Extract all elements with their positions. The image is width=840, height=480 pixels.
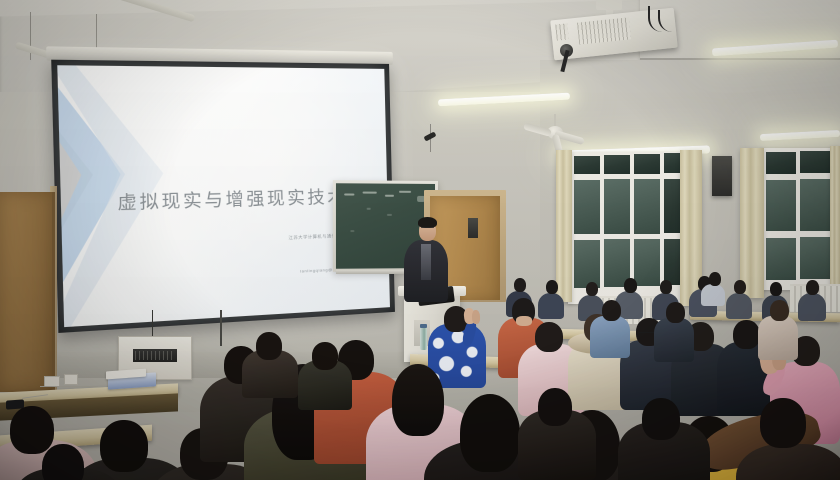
window-pane-main bbox=[766, 180, 796, 232]
wall-outlet[interactable] bbox=[64, 374, 78, 385]
panel-grille bbox=[135, 351, 175, 360]
window-pane-main bbox=[574, 180, 600, 236]
window-pane-top bbox=[634, 154, 660, 174]
projector-vent bbox=[555, 23, 569, 40]
chalk-mark bbox=[387, 214, 392, 216]
window-pane-lower bbox=[766, 238, 796, 280]
window-pane-lower bbox=[634, 238, 660, 286]
water-bottle bbox=[420, 328, 427, 350]
chalk-mark bbox=[344, 193, 354, 195]
chalk-mark bbox=[367, 208, 371, 210]
panel-cable bbox=[152, 310, 153, 338]
left-door[interactable] bbox=[0, 192, 55, 392]
window-mullion bbox=[760, 231, 840, 237]
slide-title: 虚拟现实与增强现实技术 bbox=[117, 182, 347, 214]
chalk-mark bbox=[385, 195, 394, 197]
chalk-mark bbox=[399, 191, 411, 193]
classroom-lecture-photo: 虚拟现实与增强现实技术 李宁强 江苏大学计算机与通信工程学院 jsu@.cn l… bbox=[0, 0, 840, 480]
window-pane-main bbox=[604, 179, 630, 235]
window-mullion bbox=[760, 174, 840, 179]
window-pane-top bbox=[766, 152, 796, 174]
presenter-glasses bbox=[421, 227, 434, 231]
chalk-mark bbox=[363, 192, 377, 194]
panel-display bbox=[133, 349, 177, 362]
window-pane-main bbox=[634, 178, 660, 234]
chalk-mark bbox=[350, 230, 354, 232]
window-pane-top bbox=[604, 155, 630, 175]
door-window-panel bbox=[468, 218, 478, 238]
curtain[interactable] bbox=[740, 148, 764, 298]
presenter-shirt bbox=[421, 244, 431, 280]
clapping-hand bbox=[472, 310, 480, 324]
curtain[interactable] bbox=[556, 150, 572, 302]
bottle-cap bbox=[420, 324, 427, 328]
student-neck bbox=[516, 316, 532, 326]
window-pane-top bbox=[574, 156, 600, 176]
window-pane-lower bbox=[574, 240, 600, 288]
screen-support-cable bbox=[220, 310, 222, 346]
curtain[interactable] bbox=[830, 146, 840, 292]
wall-speaker bbox=[712, 156, 732, 196]
wall-wire bbox=[40, 386, 98, 387]
